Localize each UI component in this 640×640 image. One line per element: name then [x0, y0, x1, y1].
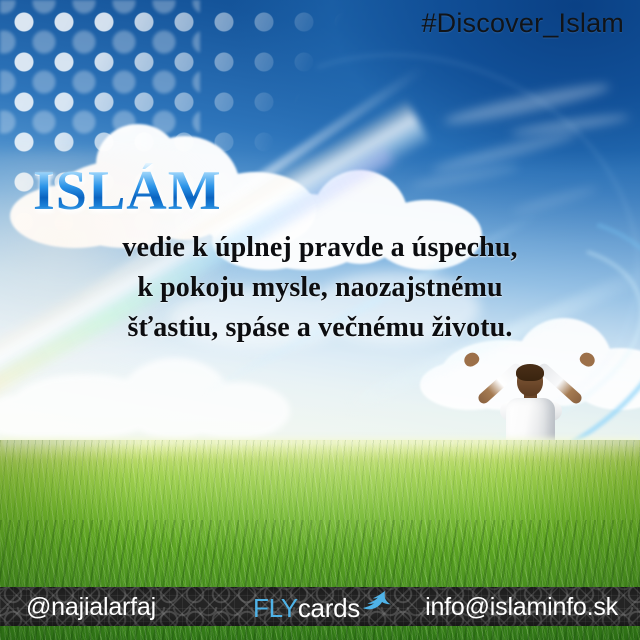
message-block: vedie k úplnej pravde a úspechu, k pokoj…: [0, 228, 640, 348]
image-card: #Discover_Islam ISLÁM vedie k úplnej pra…: [0, 0, 640, 640]
social-handle[interactable]: @najialarfaj: [26, 593, 156, 622]
flycards-logo[interactable]: FLYcards: [253, 593, 391, 624]
bird-icon: [361, 589, 391, 620]
hair: [516, 364, 544, 381]
message-line-2: k pokoju mysle, naozajstnému: [0, 268, 640, 308]
logo-text-cards: cards: [298, 593, 360, 624]
contact-email[interactable]: info@islaminfo.sk: [425, 593, 618, 622]
message-line-1: vedie k úplnej pravde a úspechu,: [0, 228, 640, 268]
logo-text-fly: FLY: [253, 593, 298, 624]
message-line-3: šťastiu, spáse a večnému životu.: [0, 308, 640, 348]
hashtag-label: #Discover_Islam: [421, 8, 624, 39]
page-title: ISLÁM: [33, 163, 222, 219]
